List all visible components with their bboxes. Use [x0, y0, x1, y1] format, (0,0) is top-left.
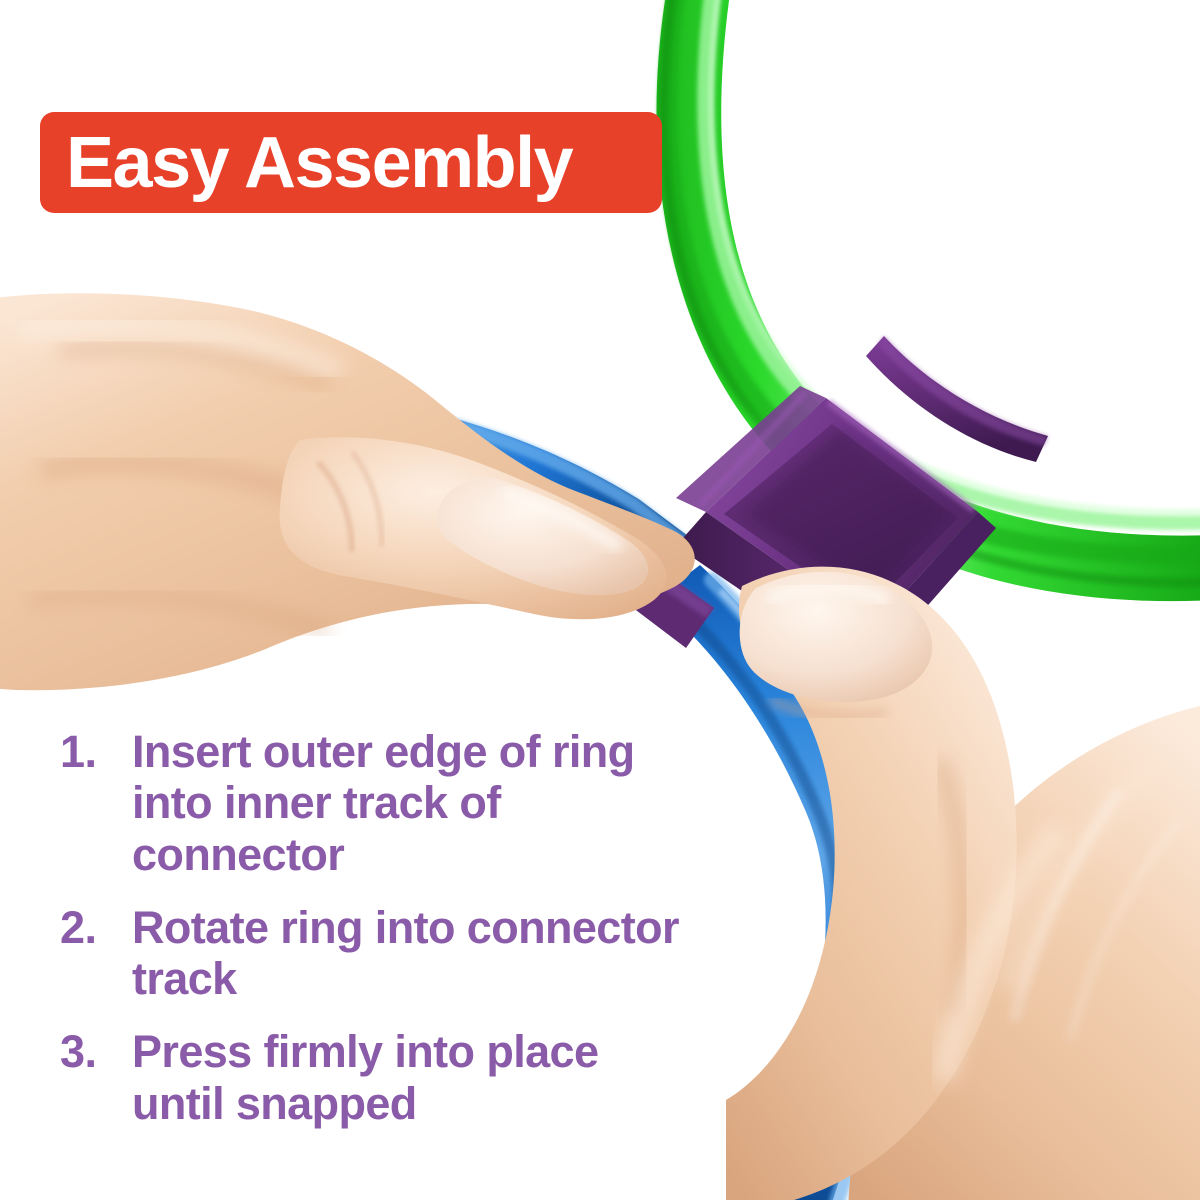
step-text: Press firmly into place until snapped [132, 1026, 680, 1129]
step-text: Insert outer edge of ring into inner tra… [132, 726, 680, 880]
list-item: 2. Rotate ring into connector track [60, 902, 680, 1005]
infographic-canvas: Easy Assembly 1. Insert outer edge of ri… [0, 0, 1200, 1200]
easy-assembly-badge: Easy Assembly [40, 112, 662, 213]
step-number: 2. [60, 902, 132, 953]
badge-label: Easy Assembly [66, 127, 572, 199]
step-text: Rotate ring into connector track [132, 902, 680, 1005]
step-number: 1. [60, 726, 132, 777]
list-item: 3. Press firmly into place until snapped [60, 1026, 680, 1129]
list-item: 1. Insert outer edge of ring into inner … [60, 726, 680, 880]
assembly-steps-list: 1. Insert outer edge of ring into inner … [60, 726, 680, 1129]
step-number: 3. [60, 1026, 132, 1077]
